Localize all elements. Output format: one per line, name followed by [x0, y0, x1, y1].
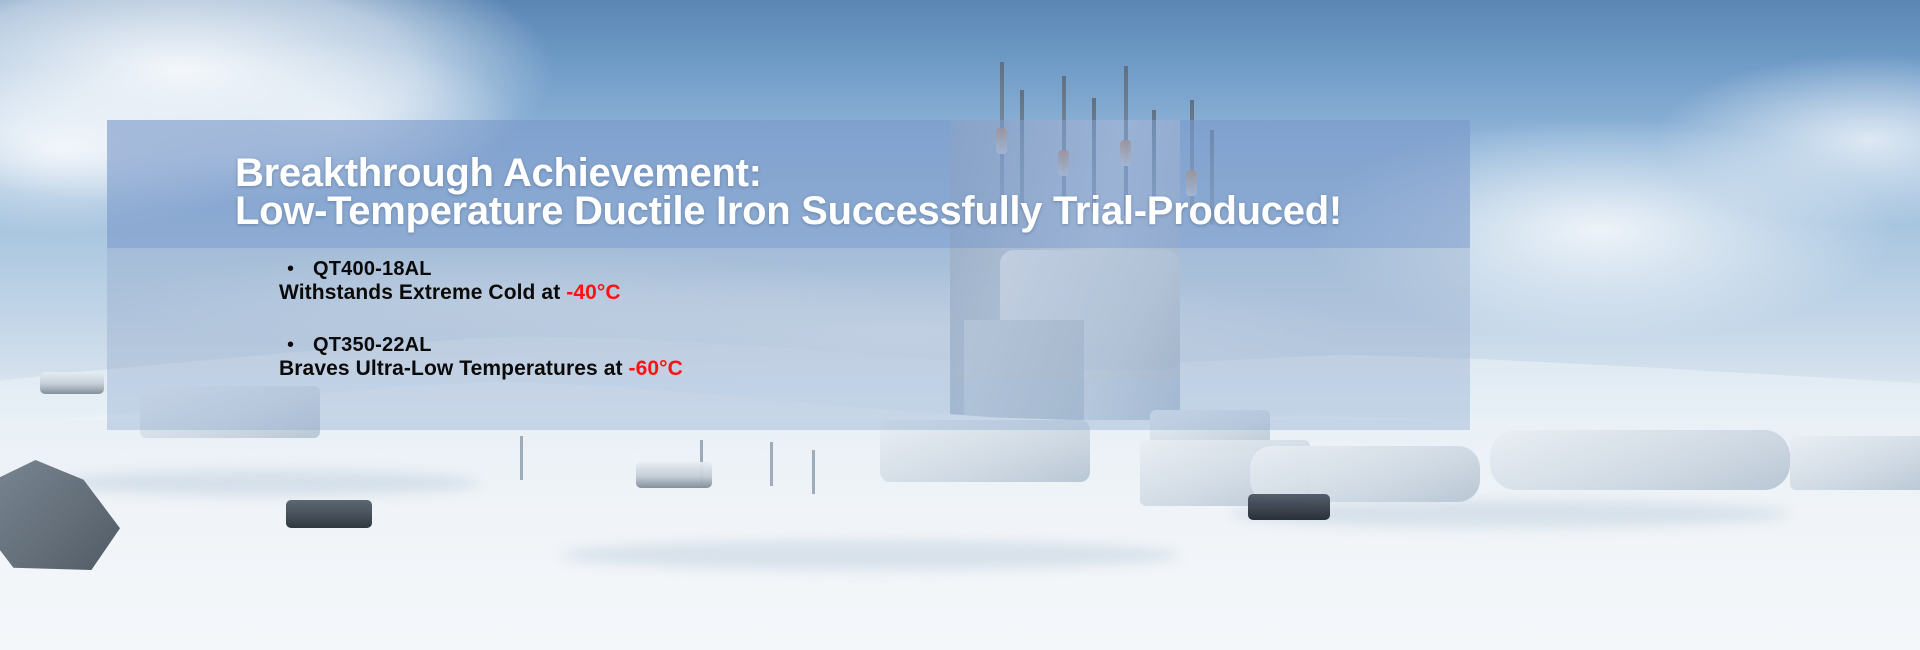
product-grade-label: QT400-18AL [313, 258, 432, 280]
snow-drift-shadow [60, 470, 480, 496]
vehicle [286, 500, 372, 528]
title-line-1: Breakthrough Achievement: [107, 154, 1470, 192]
grade-row: • QT350-22AL [107, 334, 1470, 356]
promo-banner-overlay: Breakthrough Achievement: Low-Temperatur… [107, 120, 1470, 430]
claim-text: Braves Ultra-Low Temperatures at [279, 357, 629, 380]
list-item: • QT400-18AL Withstands Extreme Cold at … [107, 258, 1470, 306]
temperature-value: -60°C [629, 357, 683, 380]
product-grade-label: QT350-22AL [313, 334, 432, 356]
grade-row: • QT400-18AL [107, 258, 1470, 280]
claim-row: Braves Ultra-Low Temperatures at -60°C [107, 356, 1470, 382]
snow-drift-shadow [560, 540, 1180, 570]
temperature-value: -40°C [566, 281, 620, 304]
utility-pole [770, 442, 773, 486]
bullet-dot-icon: • [287, 334, 313, 356]
vehicle [40, 372, 104, 394]
claim-text: Withstands Extreme Cold at [279, 281, 566, 304]
vehicle [1248, 494, 1330, 520]
title-line-2: Low-Temperature Ductile Iron Successfull… [107, 192, 1470, 230]
utility-pole [812, 450, 815, 494]
facility-building [1490, 430, 1790, 490]
vehicle [636, 462, 712, 488]
feature-list: • QT400-18AL Withstands Extreme Cold at … [107, 258, 1470, 410]
banner-title: Breakthrough Achievement: Low-Temperatur… [107, 120, 1470, 230]
bullet-dot-icon: • [287, 258, 313, 280]
list-item: • QT350-22AL Braves Ultra-Low Temperatur… [107, 334, 1470, 382]
banner-screenshot: Breakthrough Achievement: Low-Temperatur… [0, 0, 1920, 650]
utility-pole [520, 436, 523, 480]
claim-row: Withstands Extreme Cold at -40°C [107, 280, 1470, 306]
facility-building [1790, 436, 1920, 490]
